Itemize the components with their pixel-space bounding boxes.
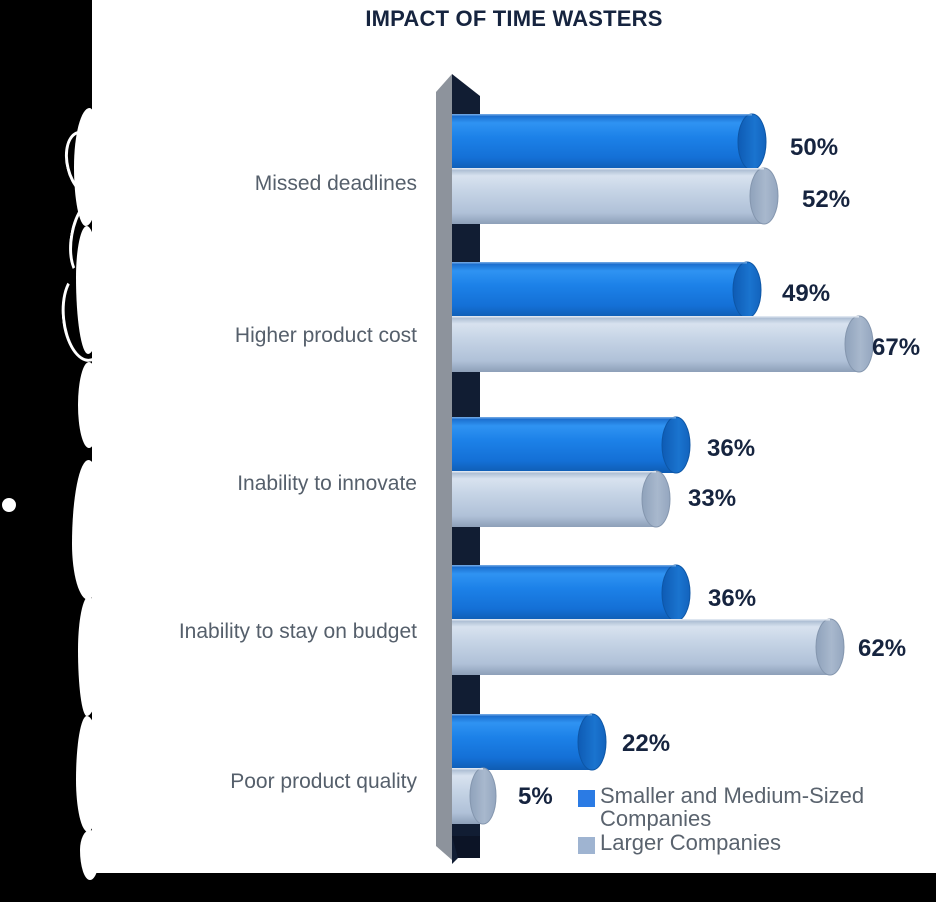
value-label-series2-cat2: 33%: [688, 485, 736, 513]
category-label-4: Poor product quality: [230, 770, 417, 794]
chart-title: IMPACT OF TIME WASTERS: [92, 6, 936, 32]
bar-series2-cat1: [452, 314, 892, 376]
legend-label-0: Smaller and Medium-Sized Companies: [600, 784, 930, 831]
value-label-series1-cat3: 36%: [708, 585, 756, 613]
value-label-series2-cat0: 52%: [802, 186, 850, 214]
value-label-series1-cat4: 22%: [622, 730, 670, 758]
decor-dot: [2, 498, 16, 512]
bar-series1-cat1: [452, 260, 770, 322]
bar-series1-cat0: [452, 112, 775, 174]
frame-bottom-border: [0, 873, 936, 902]
legend-item-0[interactable]: Smaller and Medium-Sized Companies: [578, 784, 930, 831]
category-label-0: Missed deadlines: [255, 172, 417, 196]
chart-canvas: Missed deadlines: [0, 0, 936, 902]
value-label-series2-cat3: 62%: [858, 635, 906, 663]
bar-series1-cat4: [452, 712, 622, 774]
value-label-series1-cat2: 36%: [707, 435, 755, 463]
bar-series1-cat2: [452, 415, 702, 477]
legend-item-1[interactable]: Larger Companies: [578, 831, 930, 854]
decor-blob-c: [78, 362, 100, 448]
bar-series2-cat2: [452, 469, 684, 531]
bar-series2-cat0: [452, 166, 799, 228]
value-label-series1-cat1: 49%: [782, 280, 830, 308]
bar-series2-cat4: [452, 766, 514, 828]
legend-label-1: Larger Companies: [600, 831, 781, 854]
chart-legend: Smaller and Medium-Sized Companies Large…: [578, 784, 930, 854]
value-label-series2-cat1: 67%: [872, 334, 920, 362]
category-label-1: Higher product cost: [235, 324, 417, 348]
category-label-2: Inability to innovate: [237, 472, 417, 496]
legend-swatch-icon-series2: [578, 837, 595, 854]
bar-series1-cat3: [452, 563, 702, 625]
category-label-3: Inability to stay on budget: [179, 620, 417, 644]
legend-swatch-icon-series1: [578, 790, 595, 807]
value-label-series2-cat4: 5%: [518, 783, 553, 811]
value-label-series1-cat0: 50%: [790, 134, 838, 162]
plot-area: Missed deadlines: [0, 0, 936, 902]
bar-series2-cat3: [452, 617, 862, 679]
